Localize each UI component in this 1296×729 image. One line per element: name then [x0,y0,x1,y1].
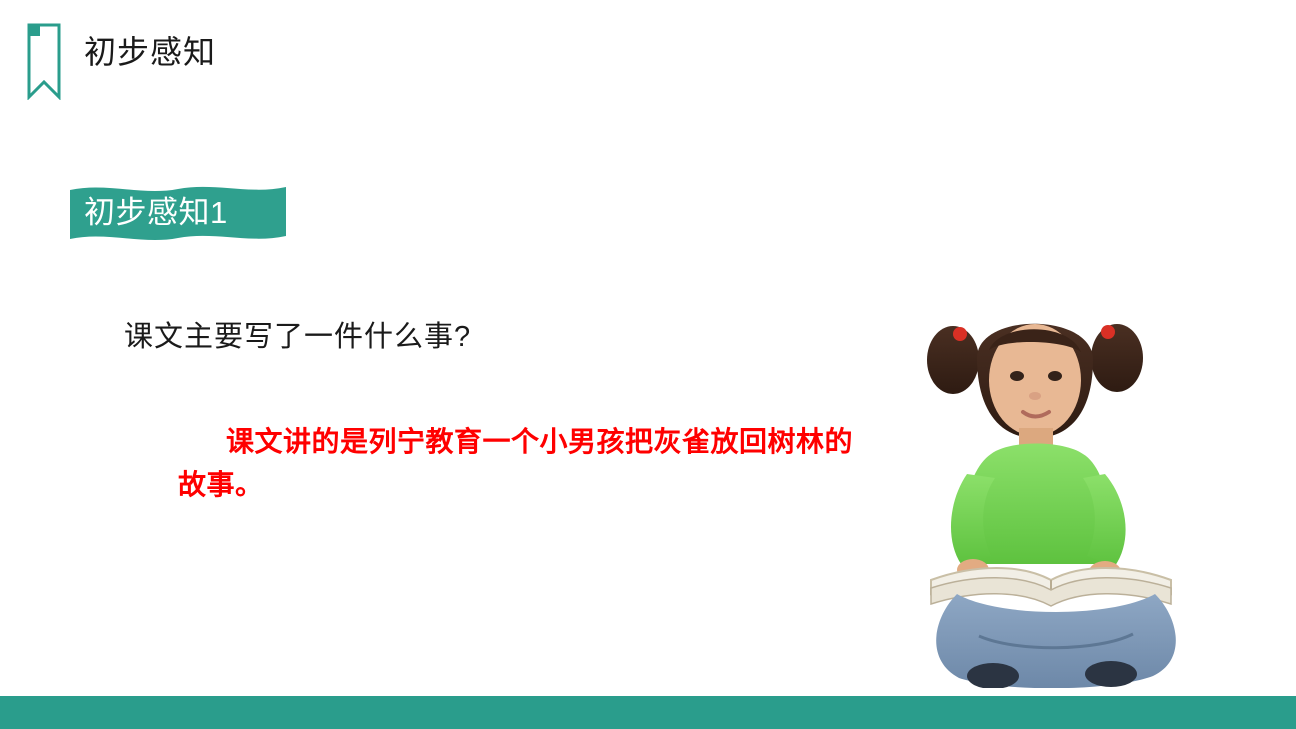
girl-reading-book-photo [905,288,1235,688]
question-text: 课文主要写了一件什么事? [124,318,471,356]
section-banner-label: 初步感知1 [84,194,284,232]
answer-text: 课文讲的是列宁教育一个小男孩把灰雀放回树林的故事。 [178,420,858,506]
bottom-bar [0,696,1296,729]
page-title: 初步感知 [84,36,216,68]
slide-header: 初步感知 [26,22,216,94]
slide-canvas: 初步感知 初步感知1 课文主要写了一件什么事? 课文讲的是列宁教育一个小男孩把灰… [0,0,1296,729]
bookmark-icon [26,22,62,94]
section-banner: 初步感知1 [70,182,286,244]
